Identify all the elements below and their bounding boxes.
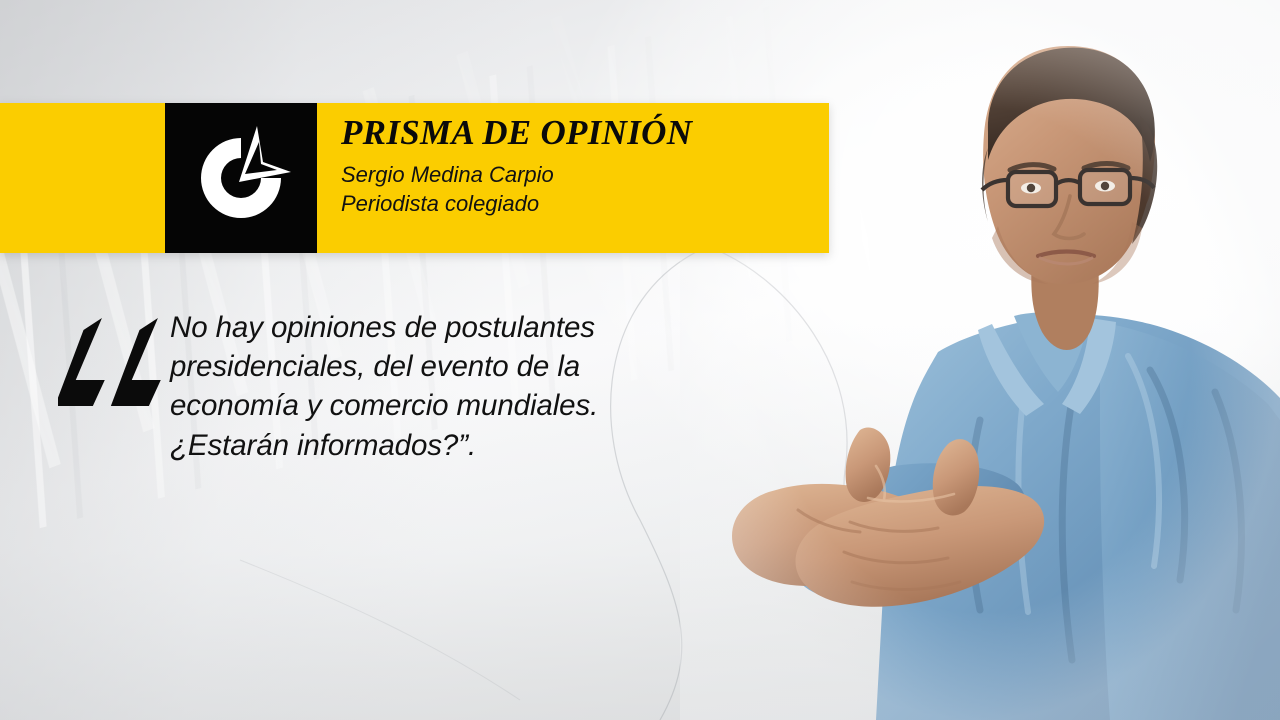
quote-text: No hay opiniones de postulantes presiden…	[170, 306, 598, 465]
logo-container	[165, 103, 317, 253]
quote-block: No hay opiniones de postulantes presiden…	[58, 306, 678, 465]
quote-line-1: No hay opiniones de postulantes	[170, 308, 598, 347]
banner-text-block: PRISMA DE OPINIÓN Sergio Medina Carpio P…	[341, 115, 819, 218]
author-role: Periodista colegiado	[341, 189, 819, 218]
quote-line-3: economía y comercio mundiales.	[170, 386, 598, 425]
quote-line-4: ¿Estarán informados?”.	[170, 426, 598, 465]
prisma-circle-arrow-logo-icon	[185, 120, 298, 236]
author-name: Sergio Medina Carpio	[341, 160, 819, 189]
page-title: PRISMA DE OPINIÓN	[341, 115, 819, 152]
opinion-banner-graphic: PRISMA DE OPINIÓN Sergio Medina Carpio P…	[0, 0, 1280, 720]
opinion-banner: PRISMA DE OPINIÓN Sergio Medina Carpio P…	[0, 103, 829, 253]
left-double-quotation-mark-icon	[58, 316, 170, 408]
quote-line-2: presidenciales, del evento de la	[170, 347, 598, 386]
